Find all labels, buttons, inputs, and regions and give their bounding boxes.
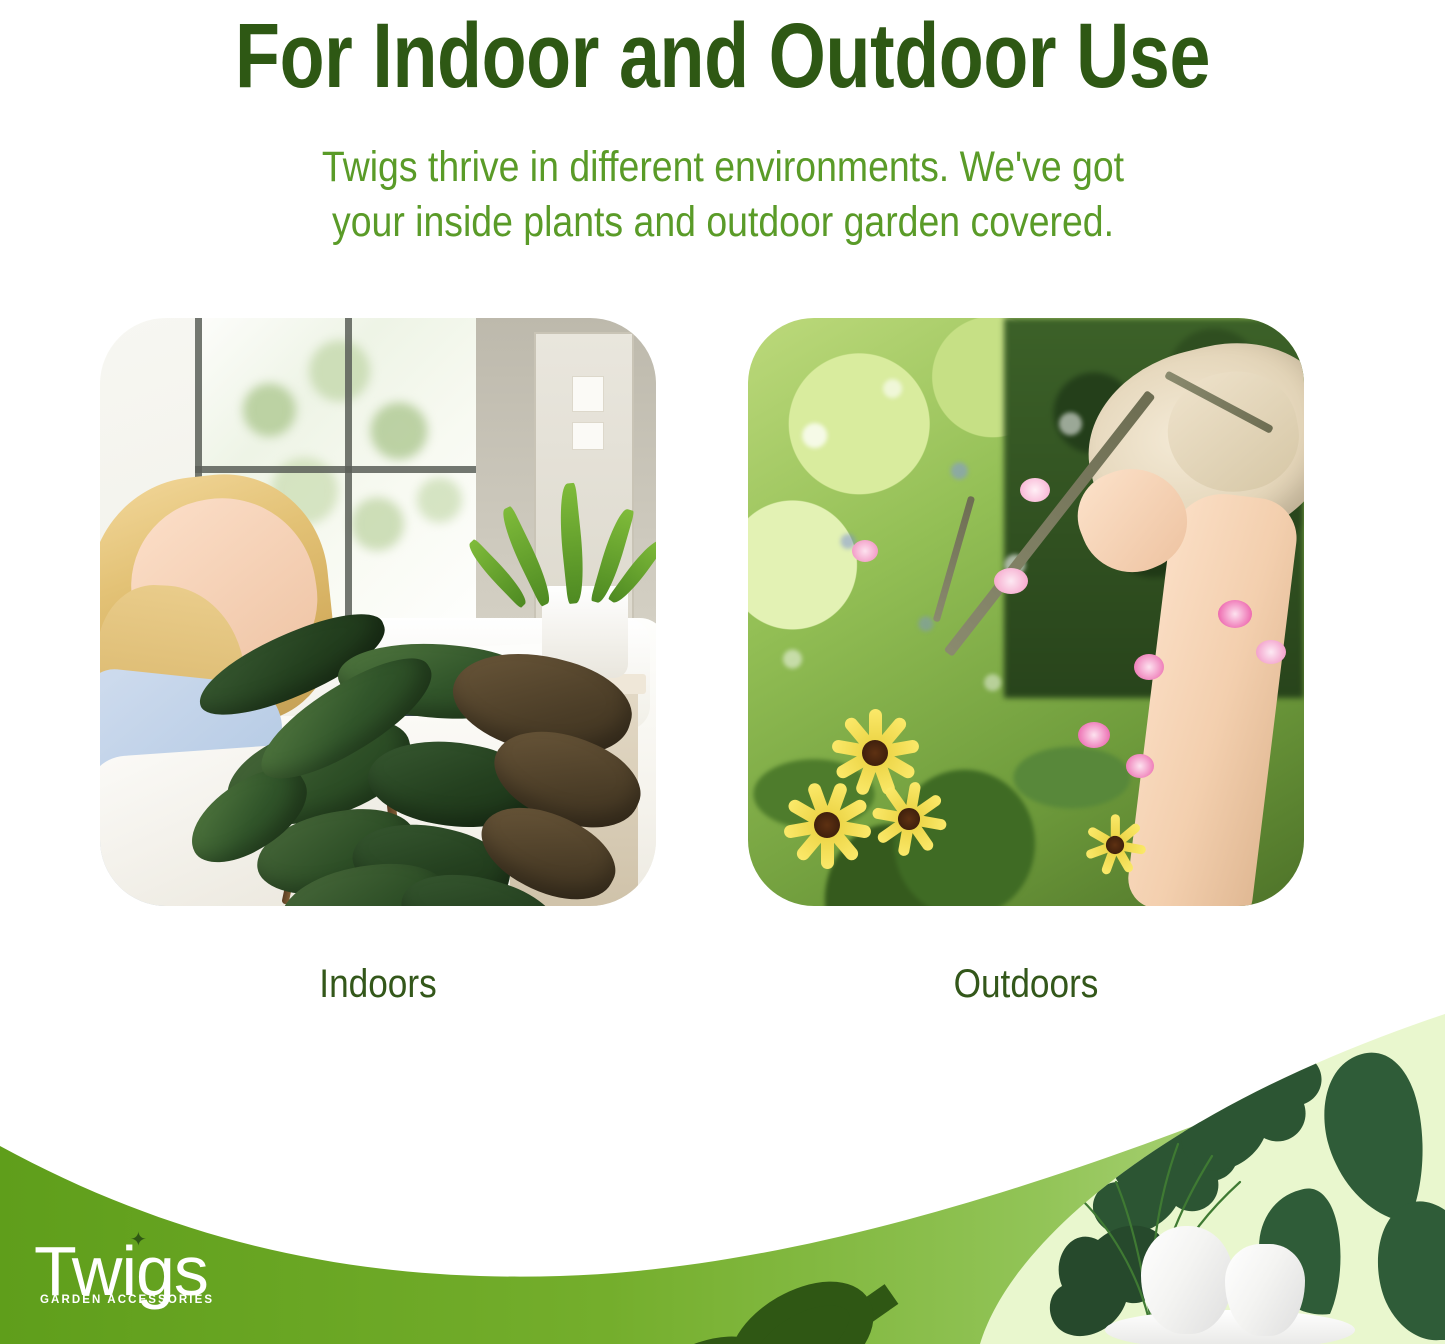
window-mullion	[195, 466, 495, 473]
pink-flower	[1020, 478, 1050, 502]
infographic-canvas: For Indoor and Outdoor Use Twigs thrive …	[0, 0, 1445, 1344]
yellow-flower	[1096, 826, 1134, 864]
yellow-flower	[840, 718, 910, 788]
light-switch-icon	[572, 376, 604, 412]
background-houseplant	[504, 468, 634, 603]
decorative-pots	[1117, 1224, 1367, 1344]
yellow-flower	[883, 793, 936, 846]
pink-flower	[1078, 722, 1110, 748]
pink-flower	[1218, 600, 1252, 628]
white-pot-large	[1141, 1226, 1233, 1334]
page-title: For Indoor and Outdoor Use	[145, 4, 1301, 108]
pink-flower	[1134, 654, 1164, 680]
pink-flower	[1256, 640, 1286, 664]
white-pot-small	[1225, 1244, 1305, 1336]
caption-outdoors: Outdoors	[781, 960, 1270, 1008]
yellow-flower	[792, 790, 862, 860]
pedestal	[1105, 1310, 1355, 1344]
page-subtitle: Twigs thrive in different environments. …	[305, 140, 1140, 250]
caption-indoors: Indoors	[133, 960, 622, 1008]
wall-plate-icon	[572, 422, 604, 450]
pink-flower	[994, 568, 1028, 594]
subtitle-line-1: Twigs thrive in different environments. …	[305, 140, 1140, 195]
rubber-plant-lower-leaves	[100, 616, 656, 906]
footer-band: Twigs ✦ GARDEN ACCESSORIES	[0, 1014, 1445, 1344]
logo-tagline: GARDEN ACCESSORIES	[40, 1294, 214, 1306]
subtitle-line-2: your inside plants and outdoor garden co…	[305, 195, 1140, 250]
pink-flower	[1126, 754, 1154, 778]
indoor-photo	[100, 318, 656, 906]
indoor-photo-card	[100, 318, 656, 906]
outdoor-photo	[748, 318, 1304, 906]
outdoor-photo-card	[748, 318, 1304, 906]
pink-flower	[852, 540, 878, 562]
twigs-logo[interactable]: Twigs ✦ GARDEN ACCESSORIES	[34, 1234, 284, 1326]
